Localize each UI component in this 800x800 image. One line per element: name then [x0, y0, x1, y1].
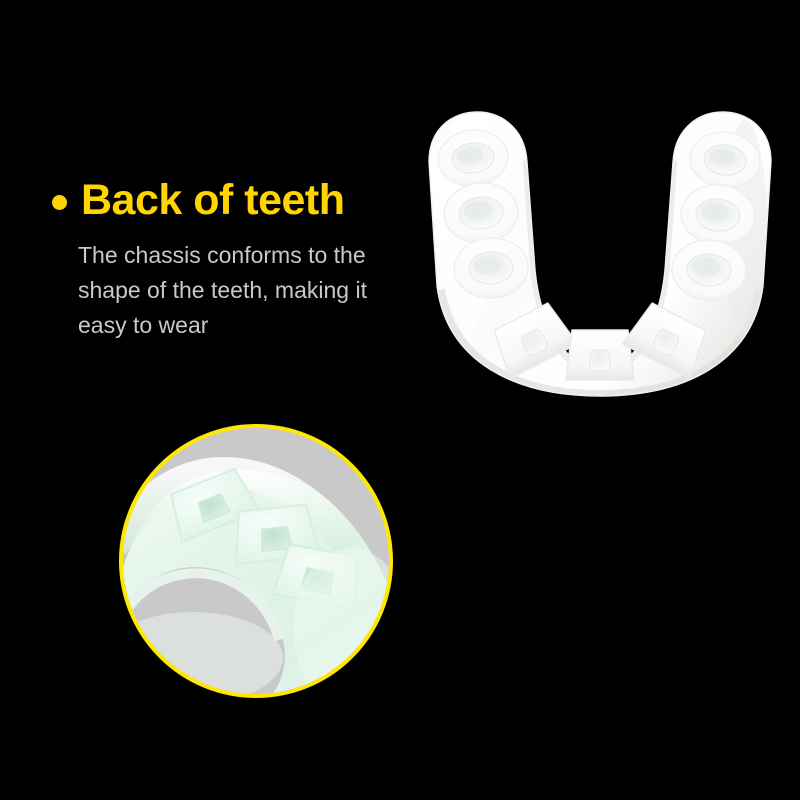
closeup-illustration — [123, 428, 389, 694]
feature-description: The chassis conforms to the shape of the… — [78, 238, 408, 343]
product-photo-mouthguard — [415, 100, 785, 405]
mouthguard-illustration — [415, 100, 785, 405]
poster-canvas: Back of teeth The chassis conforms to th… — [0, 0, 800, 800]
feature-text-block: Back of teeth The chassis conforms to th… — [52, 176, 412, 343]
bullet-dot-icon — [52, 195, 67, 210]
detail-inset-clip — [123, 428, 389, 694]
feature-heading-row: Back of teeth — [52, 176, 412, 224]
feature-heading: Back of teeth — [81, 179, 345, 222]
detail-inset-circle — [119, 424, 393, 698]
